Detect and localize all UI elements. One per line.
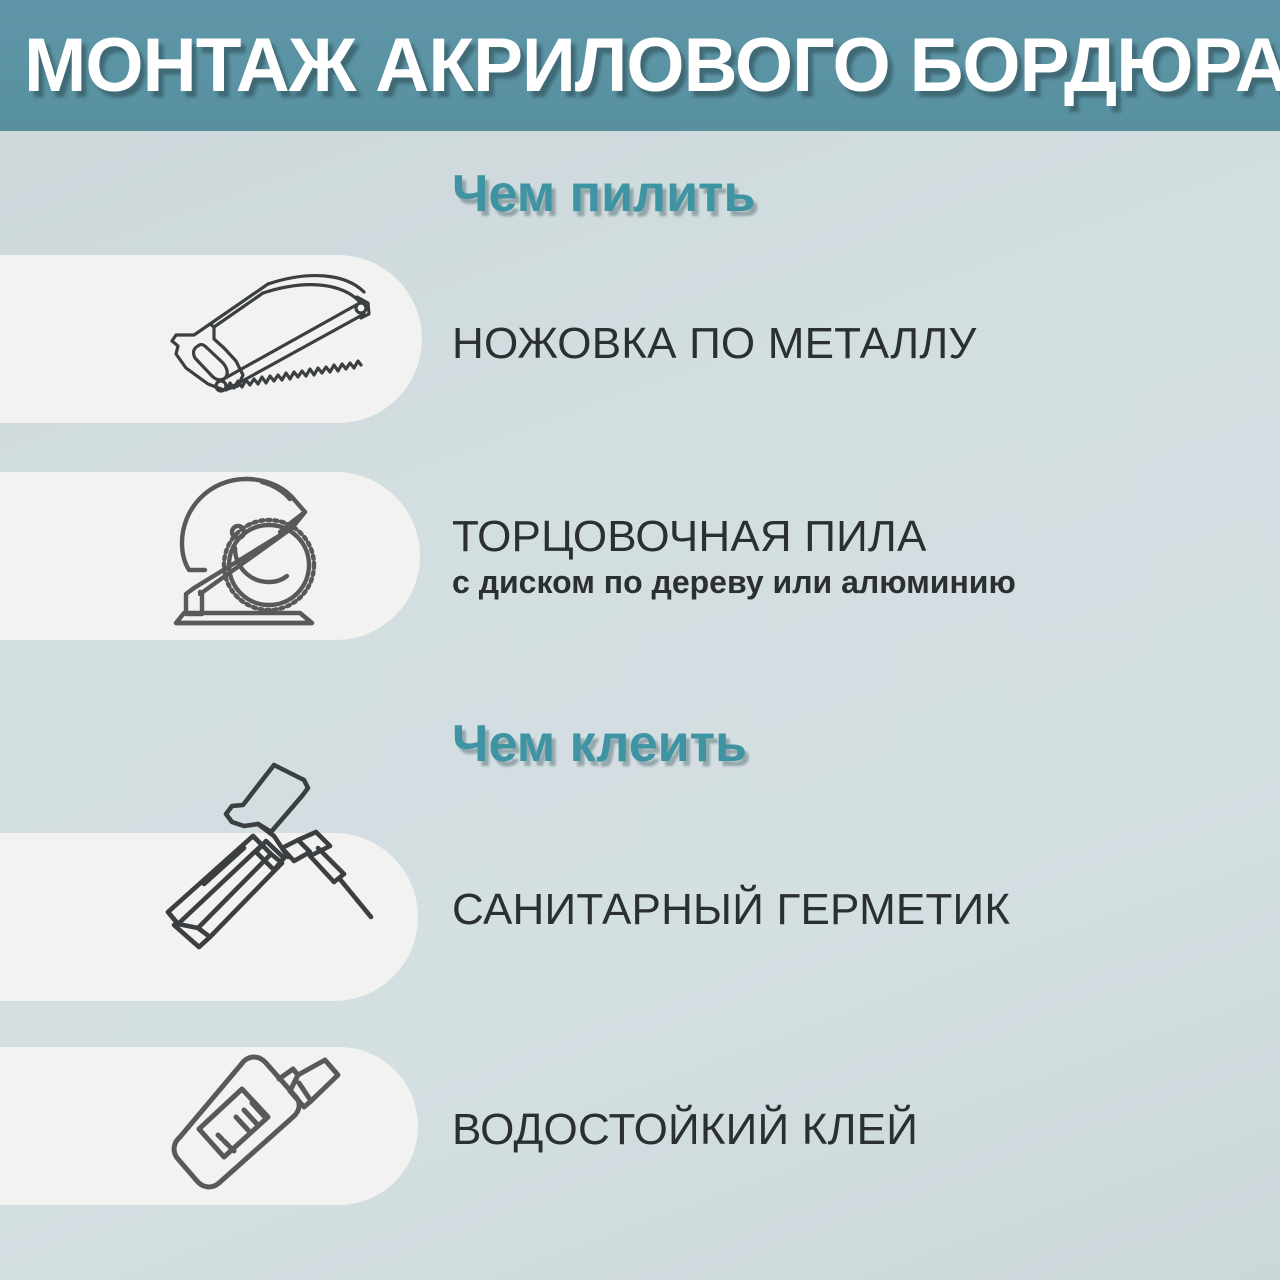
section-heading-gluing: Чем клеить <box>452 718 747 770</box>
list-item-title-1: НОЖОВКА ПО МЕТАЛЛУ <box>452 322 977 367</box>
list-item-text-4: ВОДОСТОЙКИЙ КЛЕЙ <box>452 1108 918 1153</box>
list-item-text-1: НОЖОВКА ПО МЕТАЛЛУ <box>452 322 977 367</box>
header-banner: МОНТАЖ АКРИЛОВОГО БОРДЮРА <box>0 0 1280 131</box>
page-title: МОНТАЖ АКРИЛОВОГО БОРДЮРА <box>24 28 1280 104</box>
list-item-background-4 <box>0 1047 418 1205</box>
list-item-title-2: ТОРЦОВОЧНАЯ ПИЛА <box>452 515 1016 560</box>
list-item-background-2 <box>0 472 420 640</box>
list-item-title-3: САНИТАРНЫЙ ГЕРМЕТИК <box>452 888 1010 933</box>
infographic-poster: МОНТАЖ АКРИЛОВОГО БОРДЮРА Чем пилить <box>0 0 1280 1280</box>
list-item-text-3: САНИТАРНЫЙ ГЕРМЕТИК <box>452 888 1010 933</box>
list-item-subtitle-2: с диском по дереву или алюминию <box>452 566 1016 599</box>
section-heading-cutting: Чем пилить <box>452 168 756 220</box>
list-item-background-3 <box>0 833 418 1001</box>
list-item-title-4: ВОДОСТОЙКИЙ КЛЕЙ <box>452 1108 918 1153</box>
list-item-text-2: ТОРЦОВОЧНАЯ ПИЛА с диском по дереву или … <box>452 515 1016 599</box>
list-item-background-1 <box>0 255 422 423</box>
